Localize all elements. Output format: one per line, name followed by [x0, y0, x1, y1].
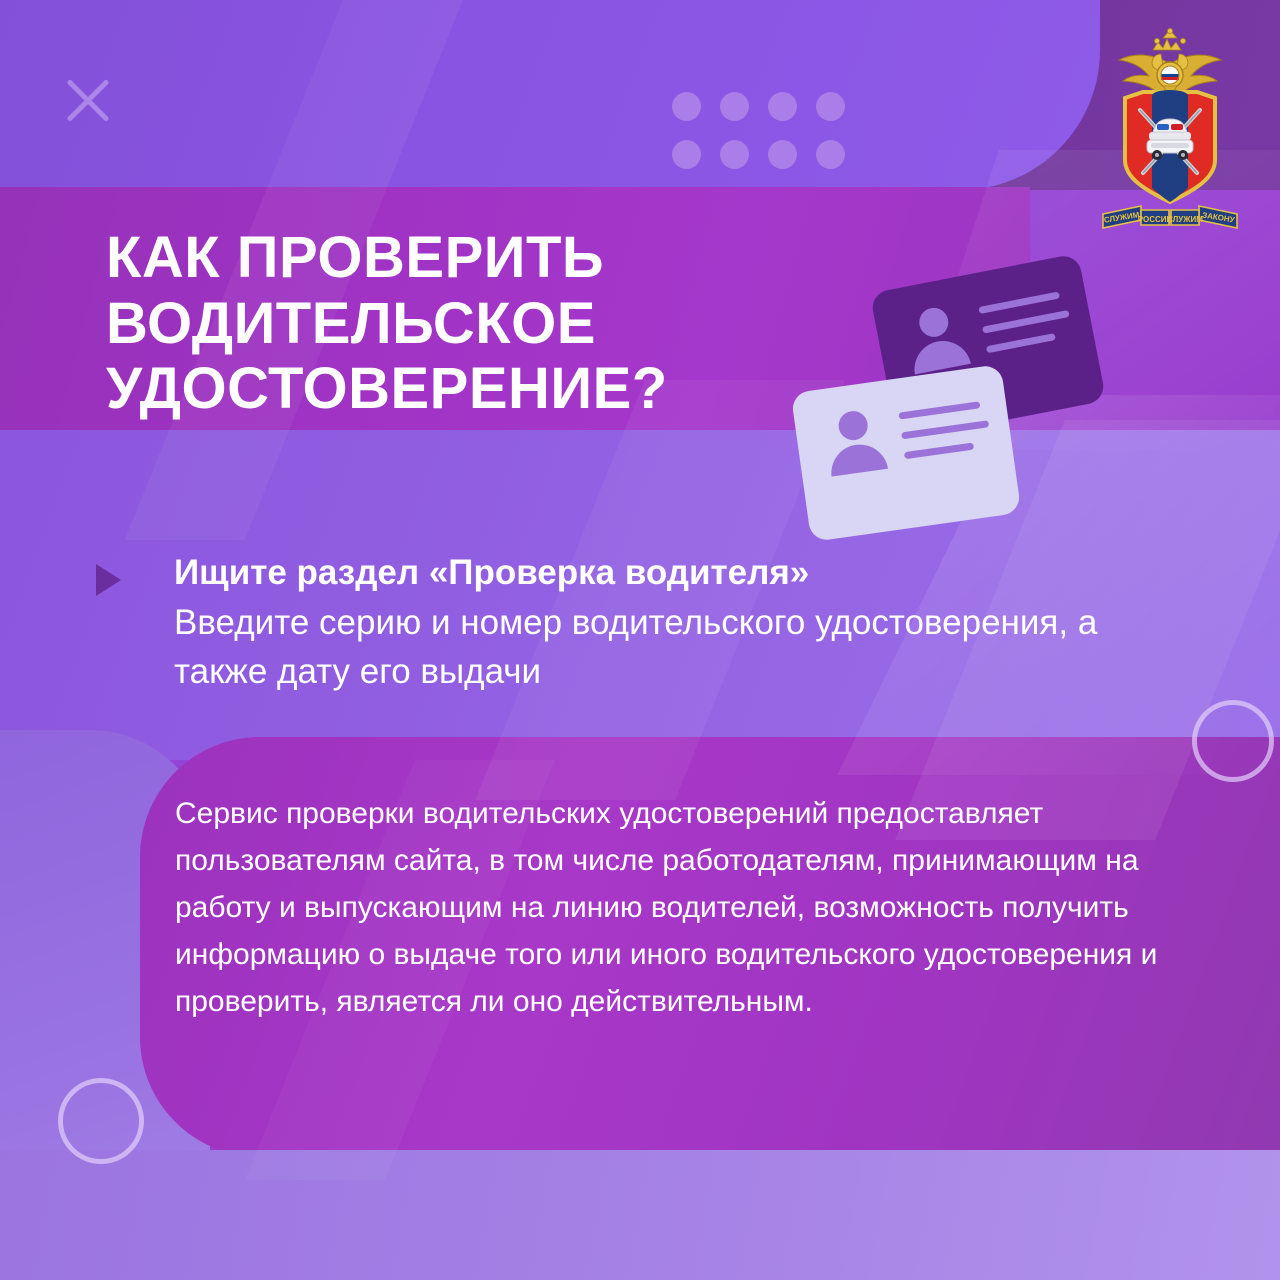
- background-band-violet-1: [0, 0, 1100, 190]
- ring-outline-decoration: [1192, 700, 1274, 782]
- close-x-icon: [60, 72, 116, 128]
- title-line-1: КАК ПРОВЕРИТЬ: [106, 225, 826, 291]
- background-band-bottom-lavender: [0, 1150, 1280, 1280]
- id-card-text-lines: [978, 290, 1076, 366]
- body-paragraph-block: Сервис проверки водительских удостоверен…: [175, 790, 1215, 1025]
- id-card-text-lines: [898, 400, 993, 472]
- page-title: КАК ПРОВЕРИТЬ ВОДИТЕЛЬСКОЕ УДОСТОВЕРЕНИЕ…: [106, 225, 826, 422]
- infographic-poster: СЛУЖИМ РОССИИ СЛУЖИМ ЗАКОНУ КАК ПРОВЕРИТ…: [0, 0, 1280, 1280]
- triangle-bullet-icon: [96, 564, 121, 596]
- ring-outline-decoration: [58, 1078, 144, 1164]
- bullet-heading: Ищите раздел «Проверка водителя»: [174, 548, 1176, 598]
- id-card-light-icon: [791, 364, 1022, 542]
- id-card-avatar: [820, 407, 890, 477]
- emblem-motto-center-bottom: СЛУЖИМ: [1167, 215, 1203, 224]
- dot-grid-decoration: [672, 92, 864, 188]
- bullet-detail: Введите серию и номер водительского удос…: [174, 598, 1176, 697]
- body-paragraph: Сервис проверки водительских удостоверен…: [175, 790, 1215, 1025]
- title-line-2: ВОДИТЕЛЬСКОЕ: [106, 291, 826, 357]
- bullet-text: Ищите раздел «Проверка водителя» Введите…: [174, 548, 1176, 697]
- id-card-avatar: [900, 302, 973, 375]
- title-line-3: УДОСТОВЕРЕНИЕ?: [106, 356, 826, 422]
- bullet-block: Ищите раздел «Проверка водителя» Введите…: [96, 548, 1176, 697]
- mvd-russia-emblem: СЛУЖИМ РОССИИ СЛУЖИМ ЗАКОНУ: [1085, 28, 1255, 243]
